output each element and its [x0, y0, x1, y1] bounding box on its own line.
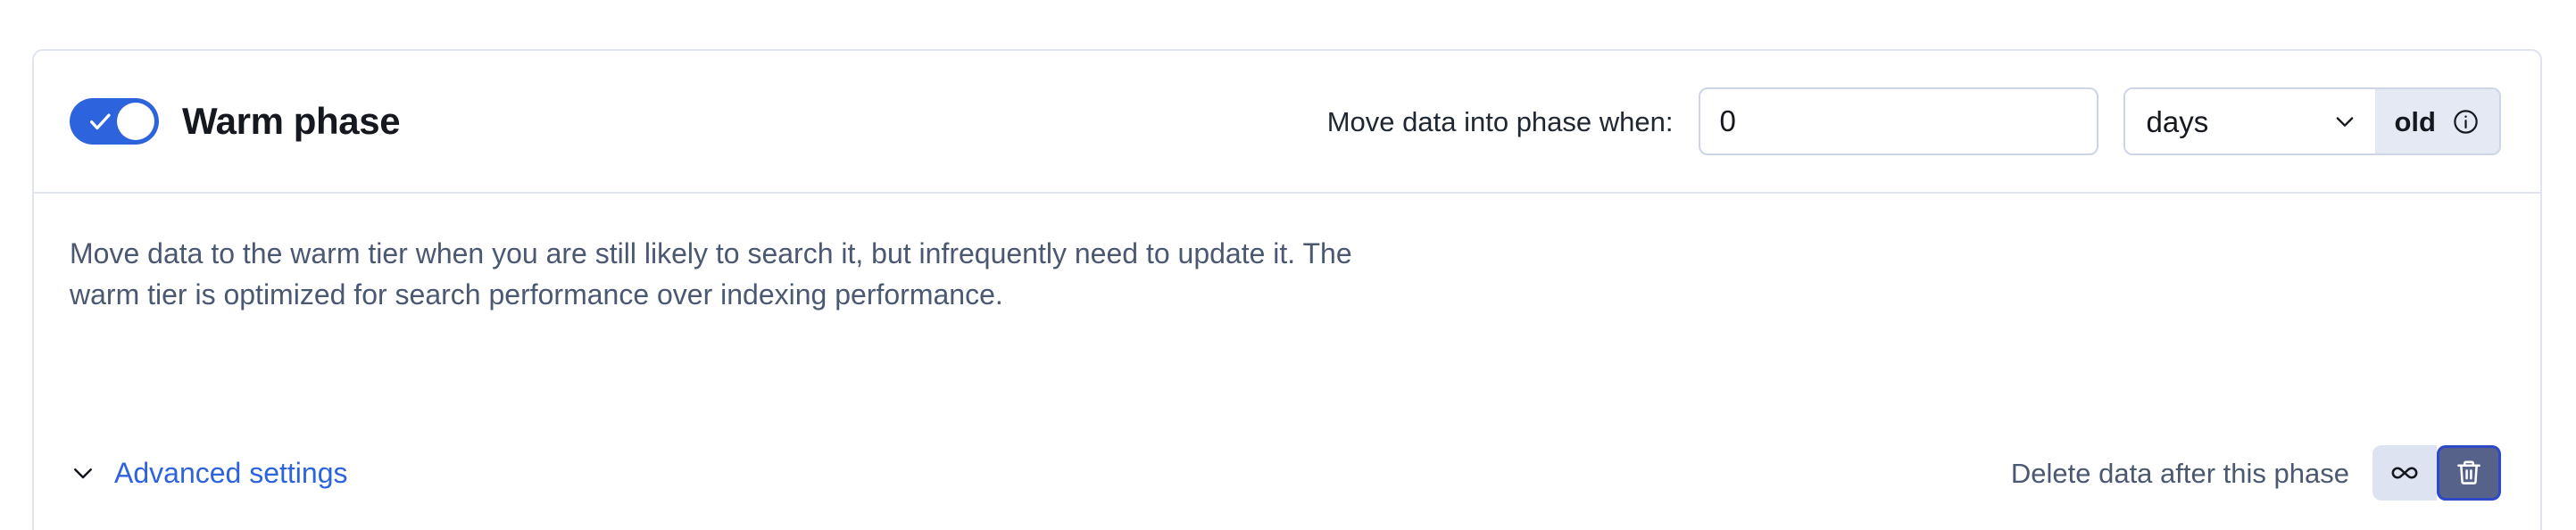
toggle-knob [117, 103, 154, 140]
retention-button-group [2372, 445, 2501, 501]
warm-phase-toggle[interactable] [70, 98, 159, 145]
min-age-unit-value: days [2147, 107, 2209, 137]
phase-body-footer: Advanced settings Delete data after this… [70, 445, 2501, 501]
advanced-settings-toggle[interactable]: Advanced settings [70, 459, 348, 487]
phase-body: Move data to the warm tier when you are … [34, 194, 2540, 530]
infinity-icon [2389, 458, 2420, 488]
phase-header-left: Warm phase [70, 98, 400, 145]
min-age-input[interactable] [1699, 87, 2098, 155]
chevron-down-icon [2332, 109, 2357, 134]
trash-icon [2454, 458, 2484, 488]
min-age-append: old [2375, 89, 2500, 153]
phase-header: Warm phase Move data into phase when: da… [34, 51, 2540, 194]
move-data-label: Move data into phase when: [1327, 108, 1674, 136]
warm-phase-card: Warm phase Move data into phase when: da… [32, 49, 2542, 530]
phase-header-right: Move data into phase when: days old [1327, 87, 2501, 155]
min-age-unit-group: days old [2123, 87, 2502, 155]
info-circle-icon[interactable] [2452, 108, 2480, 136]
advanced-settings-label: Advanced settings [114, 459, 348, 487]
append-old-label: old [2395, 108, 2437, 136]
page-title: Warm phase [182, 103, 400, 140]
min-age-unit-select[interactable]: days [2125, 89, 2375, 153]
check-icon [87, 108, 113, 135]
keep-data-forever-button[interactable] [2372, 445, 2437, 501]
delete-data-label: Delete data after this phase [2011, 460, 2349, 487]
delete-data-button[interactable] [2437, 445, 2501, 501]
warm-phase-screen: Warm phase Move data into phase when: da… [0, 0, 2576, 530]
retention-controls: Delete data after this phase [2011, 445, 2501, 501]
chevron-down-icon [70, 460, 96, 486]
phase-description: Move data to the warm tier when you are … [70, 233, 1408, 316]
